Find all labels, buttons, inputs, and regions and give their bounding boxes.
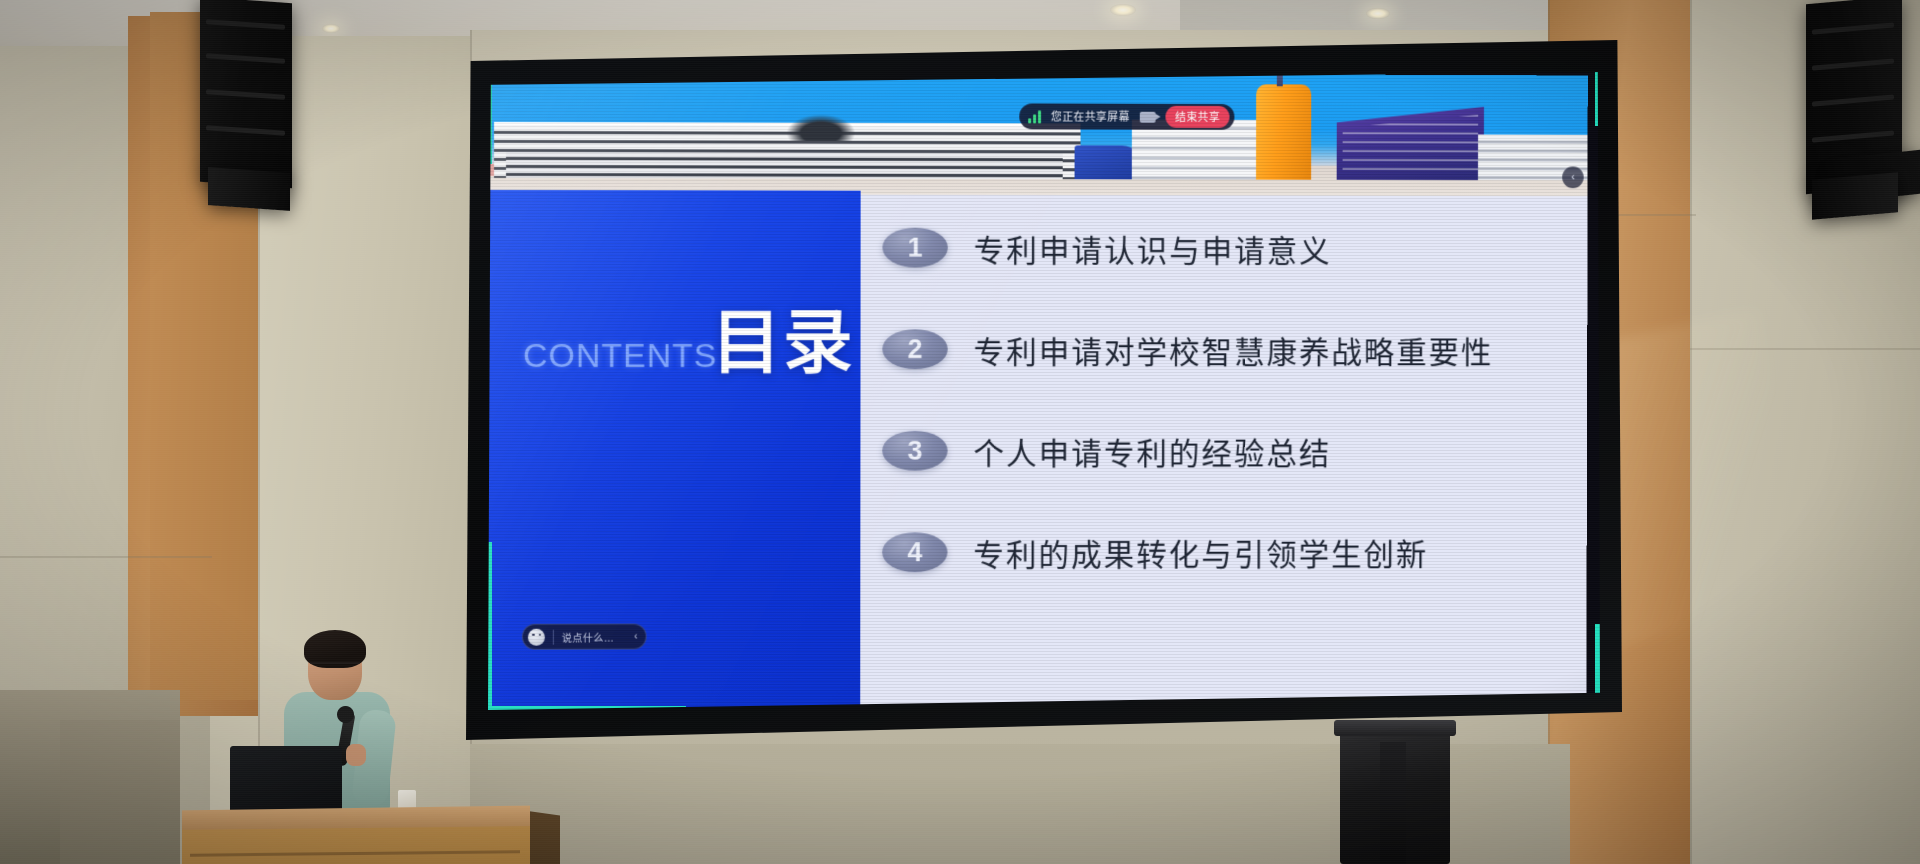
lecture-hall-scene: CONTENTS 目录 1 专利申请认识与申请意义 2 专利申请对学校智慧康养战…	[0, 0, 1920, 864]
ceiling-downlight	[1110, 4, 1136, 16]
toc-number-badge: 3	[882, 431, 947, 471]
slide-title-block: CONTENTS 目录	[488, 308, 861, 378]
microphone-head	[337, 706, 354, 723]
subwoofer-top-plate	[1334, 720, 1456, 736]
toc-number-badge: 4	[882, 532, 947, 572]
podium-area	[210, 600, 570, 864]
line-array-speaker-left-lower	[208, 167, 290, 211]
toc-item: 1 专利申请认识与申请意义	[882, 225, 1571, 272]
speaker-driver	[1812, 22, 1895, 34]
campus-trees	[787, 115, 855, 141]
wall-seam-horizontal	[0, 556, 212, 558]
led-display-screen: CONTENTS 目录 1 专利申请认识与申请意义 2 专利申请对学校智慧康养战…	[466, 40, 1622, 740]
speaker-driver	[206, 89, 285, 100]
toc-item: 4 专利的成果转化与引领学生创新	[882, 528, 1571, 575]
toc-number-badge: 2	[882, 329, 947, 369]
slide-title-chinese: 目录	[711, 308, 854, 378]
campus-orange-tower	[1256, 84, 1311, 179]
toc-item-label: 专利的成果转化与引领学生创新	[973, 529, 1428, 574]
auditorium-seating-left-front	[60, 720, 180, 864]
slide-title-english: CONTENTS	[523, 337, 717, 376]
end-sharing-button[interactable]: 结束共享	[1165, 106, 1230, 128]
campus-building-main-lower	[506, 152, 1063, 179]
toc-number-badge: 1	[882, 228, 947, 268]
campus-photo-banner	[488, 72, 1588, 196]
wall-seam-horizontal	[1690, 348, 1920, 350]
slide-projection: CONTENTS 目录 1 专利申请认识与申请意义 2 专利申请对学校智慧康养战…	[488, 72, 1588, 710]
speaker-driver	[206, 19, 285, 30]
screen-share-status-text: 您正在共享屏幕	[1051, 108, 1130, 124]
camera-icon[interactable]	[1140, 111, 1156, 122]
screen-share-status-bar[interactable]: 您正在共享屏幕 结束共享	[1019, 103, 1235, 129]
speaker-driver	[1812, 58, 1895, 70]
presenter-hand	[346, 744, 366, 766]
ceiling-downlight	[1366, 8, 1390, 19]
slide-toc-list: 1 专利申请认识与申请意义 2 专利申请对学校智慧康养战略重要性 3 个人申请专…	[882, 225, 1572, 631]
podium-front-panel	[182, 826, 530, 864]
wall-seam	[1690, 0, 1692, 864]
speaker-driver	[1812, 94, 1895, 106]
speaker-driver	[206, 53, 285, 64]
toc-item-label: 个人申请专利的经验总结	[973, 428, 1331, 473]
signal-bars-icon	[1028, 110, 1041, 123]
toc-item: 2 专利申请对学校智慧康养战略重要性	[882, 326, 1571, 372]
speaker-driver	[206, 125, 285, 136]
line-array-speaker-right-lower	[1812, 172, 1898, 220]
subwoofer-stand	[1380, 742, 1406, 864]
speaker-driver	[1812, 130, 1895, 142]
toc-item-label: 专利申请对学校智慧康养战略重要性	[973, 327, 1493, 372]
toc-item-label: 专利申请认识与申请意义	[974, 225, 1332, 270]
chevron-left-icon[interactable]: ‹	[634, 631, 637, 642]
collapse-panel-button[interactable]: ‹	[1562, 166, 1584, 188]
presenter-glasses	[310, 662, 360, 672]
line-array-speaker-left	[200, 0, 292, 188]
presentation-slide: CONTENTS 目录 1 专利申请认识与申请意义 2 专利申请对学校智慧康养战…	[488, 72, 1588, 710]
ceiling-downlight	[322, 24, 340, 33]
screen-display-area: CONTENTS 目录 1 专利申请认识与申请意义 2 专利申请对学校智慧康养战…	[488, 72, 1600, 710]
toc-item: 3 个人申请专利的经验总结	[882, 428, 1571, 474]
